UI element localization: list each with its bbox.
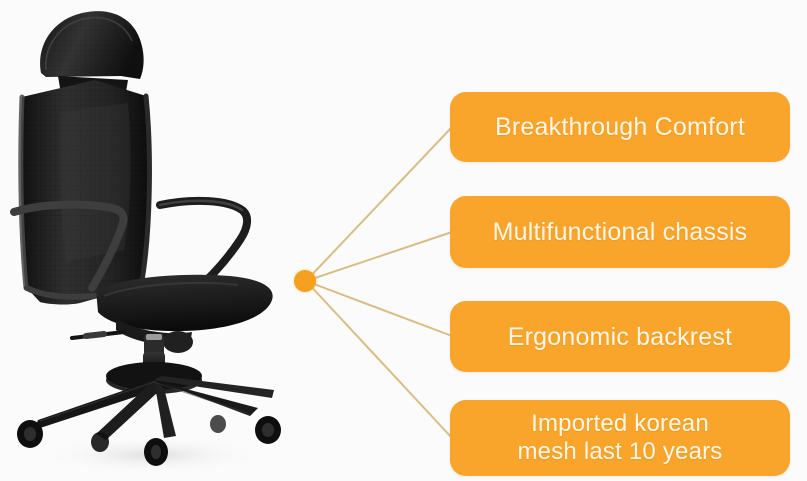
feature-pill-multifunctional-chassis[interactable]: Multifunctional chassis xyxy=(450,196,790,268)
chair-headrest xyxy=(40,11,144,92)
connector-line-1 xyxy=(306,127,452,281)
feature-hub-dot xyxy=(294,270,316,292)
feature-pill-label: Ergonomic backrest xyxy=(508,323,733,351)
feature-pill-label: Imported korean mesh last 10 years xyxy=(517,410,722,465)
feature-pill-label: Multifunctional chassis xyxy=(493,218,748,246)
feature-pill-label: Breakthrough Comfort xyxy=(495,113,745,141)
chair-backrest xyxy=(21,80,150,305)
infographic-canvas: Breakthrough Comfort Multifunctional cha… xyxy=(0,0,807,481)
connector-line-4 xyxy=(306,281,452,438)
feature-pill-breakthrough-comfort[interactable]: Breakthrough Comfort xyxy=(450,92,790,162)
feature-pill-imported-korean-mesh[interactable]: Imported korean mesh last 10 years xyxy=(450,400,790,476)
product-image-office-chair xyxy=(0,0,300,481)
connector-line-2 xyxy=(306,232,452,281)
feature-pill-ergonomic-backrest[interactable]: Ergonomic backrest xyxy=(450,301,790,372)
connector-line-3 xyxy=(306,281,452,336)
